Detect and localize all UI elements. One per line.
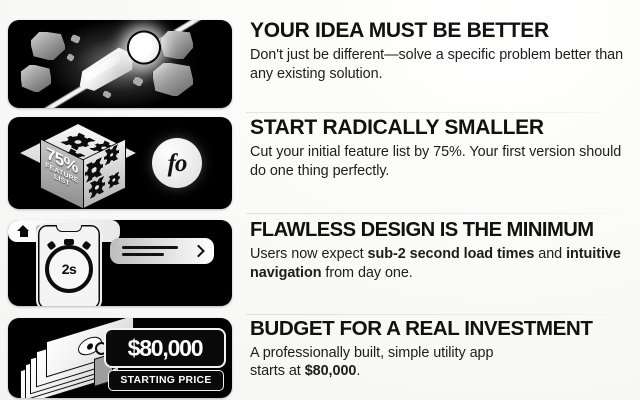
stopwatch-stem [64, 239, 74, 245]
price-tag-amount: $80,000 [128, 335, 203, 362]
ui-text-line [122, 246, 178, 249]
phone-notch [56, 225, 82, 232]
tip-heading: BUDGET FOR A REAL INVESTMENT [250, 318, 632, 340]
stopwatch-ear-left [47, 240, 57, 250]
tip-body: A professionally built, simple utility a… [250, 344, 632, 381]
cube-icon: 75% FEATURE LIST [34, 123, 130, 203]
tip-row-2: 75% FEATURE LIST fo START RADICALLY SMAL… [0, 117, 640, 209]
illustration-crystal-breaking-rocks [8, 20, 232, 108]
tip-body-line-1: Don't just be different—solve a specific… [250, 47, 551, 63]
tip-body-segment: from day one. [321, 265, 412, 281]
tip-text-4: BUDGET FOR A REAL INVESTMENT A professio… [232, 318, 640, 381]
gear-icon [106, 147, 117, 163]
tip-body-segment: and [534, 246, 566, 262]
chevron-right-icon [192, 245, 205, 258]
tip-heading: YOUR IDEA MUST BE BETTER [250, 20, 632, 42]
tip-body-segment-bold: $80,000 [305, 363, 357, 379]
tip-body: Don't just be different—solve a specific… [250, 46, 632, 83]
smartphone-icon: 2s [36, 223, 102, 306]
tip-body-line-1: Cut your initial feature list by 75%. Yo… [250, 144, 575, 160]
row-divider-2 [246, 213, 630, 214]
tip-body-segment-bold: sub-2 second load times [368, 246, 535, 262]
gear-icon [87, 159, 101, 180]
tip-text-3: FLAWLESS DESIGN IS THE MINIMUM Users now… [232, 220, 640, 283]
illustration-phone-speed-ui: 2s [8, 220, 232, 306]
tip-row-4: $80,000 STARTING PRICE BUDGET FOR A REAL… [0, 318, 640, 398]
price-subtag: STARTING PRICE [108, 370, 224, 391]
gear-icon [91, 178, 103, 196]
illustration-cash-price-tag: $80,000 STARTING PRICE [8, 318, 232, 398]
tip-heading: START RADICALLY SMALLER [250, 117, 632, 139]
stopwatch-ear-right [82, 240, 92, 250]
tip-body: Cut your initial feature list by 75%. Yo… [250, 143, 632, 180]
infographic-canvas: YOUR IDEA MUST BE BETTER Don't just be d… [0, 0, 640, 400]
fo-logo-text: fo [168, 151, 187, 176]
tip-row-3: 2s FLAWLESS DESIGN IS THE MINIMUM Users … [0, 220, 640, 310]
tip-body-line-1: A professionally built, simple utility a… [250, 345, 493, 361]
tip-body-segment: Users now expect [250, 246, 368, 262]
tip-body: Users now expect sub-2 second load times… [250, 245, 632, 282]
ui-text-line [122, 253, 164, 256]
price-subtag-label: STARTING PRICE [120, 375, 211, 386]
illustration-gear-cube: 75% FEATURE LIST fo [8, 117, 232, 209]
fo-logo-badge: fo [152, 138, 202, 188]
tip-row-1: YOUR IDEA MUST BE BETTER Don't just be d… [0, 20, 640, 108]
home-icon [17, 225, 30, 237]
price-tag: $80,000 [104, 328, 226, 368]
stopwatch-icon: 2s [45, 245, 93, 293]
ui-list-card [110, 238, 214, 264]
row-divider-1 [246, 112, 630, 113]
tip-body-segment: . [356, 363, 360, 379]
tip-heading: FLAWLESS DESIGN IS THE MINIMUM [250, 220, 632, 241]
tip-text-1: YOUR IDEA MUST BE BETTER Don't just be d… [232, 20, 640, 83]
row-divider-3 [246, 314, 630, 315]
tip-text-2: START RADICALLY SMALLER Cut your initial… [232, 117, 640, 180]
tip-body-segment: starts at [250, 363, 305, 379]
stopwatch-label: 2s [62, 261, 77, 277]
gear-icon [109, 173, 119, 188]
